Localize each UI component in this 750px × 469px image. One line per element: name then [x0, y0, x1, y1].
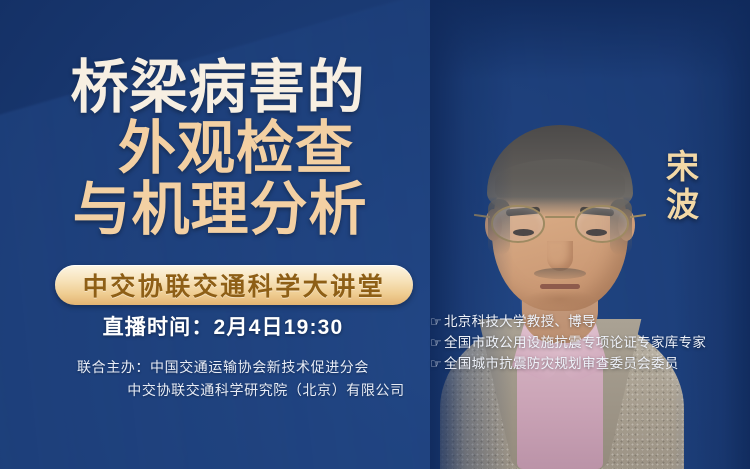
credential-item-1: ☞ 北京科技大学教授、博导 [430, 312, 706, 333]
series-banner: 中交协联交通科学大讲堂 [55, 265, 413, 305]
pointing-hand-icon: ☞ [430, 312, 442, 332]
nose-shape [547, 241, 573, 271]
mustache-shape [534, 268, 586, 279]
organizer-line-2: 中交协联交通科学研究院（北京）有限公司 [0, 379, 446, 402]
glasses-lens-left [491, 205, 545, 243]
poster-title: 桥梁病害的 外观检查 与机理分析 [0, 58, 446, 239]
title-line-2: 外观检查 [26, 119, 446, 178]
credential-label-1: 北京科技大学教授、博导 [444, 312, 596, 333]
series-banner-label: 中交协联交通科学大讲堂 [83, 267, 386, 303]
live-time: 直播时间：2月4日19:30 [0, 311, 446, 341]
credential-item-3: ☞ 全国城市抗震防灾规划审查委员会委员 [430, 354, 706, 375]
pointing-hand-icon: ☞ [430, 354, 442, 374]
chin-shadow [525, 289, 595, 309]
glasses-bridge [545, 216, 575, 218]
speaker-name-char-2: 波 [666, 186, 700, 224]
webinar-poster: 宋 波 ☞ 北京科技大学教授、博导 ☞ 全国市政公用设施抗震专项论证专家库专家 … [0, 0, 750, 469]
glasses-lens-right [575, 205, 629, 243]
title-line-1: 桥梁病害的 [0, 58, 446, 117]
portrait-zone [430, 0, 750, 469]
pointing-hand-icon: ☞ [430, 333, 442, 353]
credential-label-2: 全国市政公用设施抗震专项论证专家库专家 [444, 333, 706, 354]
credentials-list: ☞ 北京科技大学教授、博导 ☞ 全国市政公用设施抗震专项论证专家库专家 ☞ 全国… [430, 312, 706, 375]
organizers-block: 联合主办：中国交通运输协会新技术促进分会 中交协联交通科学研究院（北京）有限公司 [0, 356, 446, 401]
title-line-3: 与机理分析 [0, 180, 446, 239]
credential-item-2: ☞ 全国市政公用设施抗震专项论证专家库专家 [430, 333, 706, 354]
organizer-line-1: 联合主办：中国交通运输协会新技术促进分会 [0, 356, 446, 379]
glasses-icon [489, 205, 631, 245]
hair-shape [487, 125, 633, 217]
speaker-name-char-1: 宋 [666, 148, 700, 186]
credential-label-3: 全国城市抗震防灾规划审查委员会委员 [444, 354, 679, 375]
left-text-column: 桥梁病害的 外观检查 与机理分析 中交协联交通科学大讲堂 直播时间：2月4日19… [0, 0, 446, 469]
speaker-portrait [444, 65, 676, 469]
speaker-name: 宋 波 [666, 148, 700, 225]
